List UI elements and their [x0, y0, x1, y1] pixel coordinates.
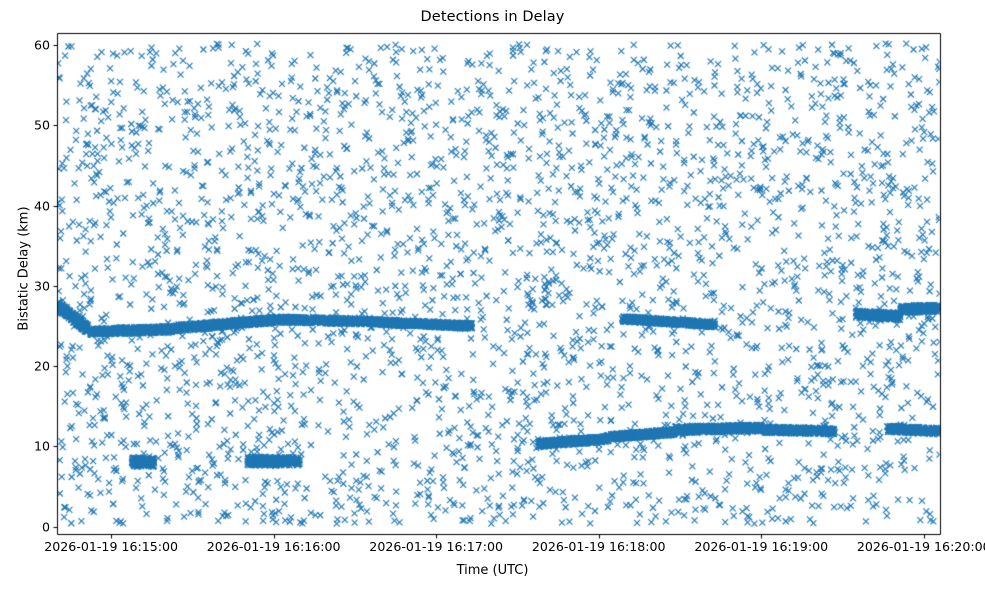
y-tick-label: 10 — [34, 439, 50, 454]
y-axis-label: Bistatic Delay (km) — [17, 149, 32, 389]
y-tick-label: 40 — [34, 198, 50, 213]
x-axis-label: Time (UTC) — [0, 563, 985, 578]
y-tick-label: 30 — [34, 278, 50, 293]
x-tick-label: 2026-01-19 16:17:00 — [369, 539, 503, 554]
x-tick-label: 2026-01-19 16:20:00 — [857, 539, 985, 554]
y-tick-label: 60 — [34, 38, 50, 53]
chart-title: Detections in Delay — [0, 9, 985, 25]
y-tick-label: 0 — [42, 519, 50, 534]
x-tick-label: 2026-01-19 16:15:00 — [44, 539, 178, 554]
x-tick-label: 2026-01-19 16:16:00 — [207, 539, 341, 554]
y-tick-label: 20 — [34, 359, 50, 374]
y-tick-label: 50 — [34, 118, 50, 133]
scatter-plot-canvas — [0, 0, 985, 590]
matplotlib-figure: Detections in Delay Time (UTC) Bistatic … — [0, 0, 985, 590]
x-tick-label: 2026-01-19 16:18:00 — [532, 539, 666, 554]
x-tick-label: 2026-01-19 16:19:00 — [694, 539, 828, 554]
